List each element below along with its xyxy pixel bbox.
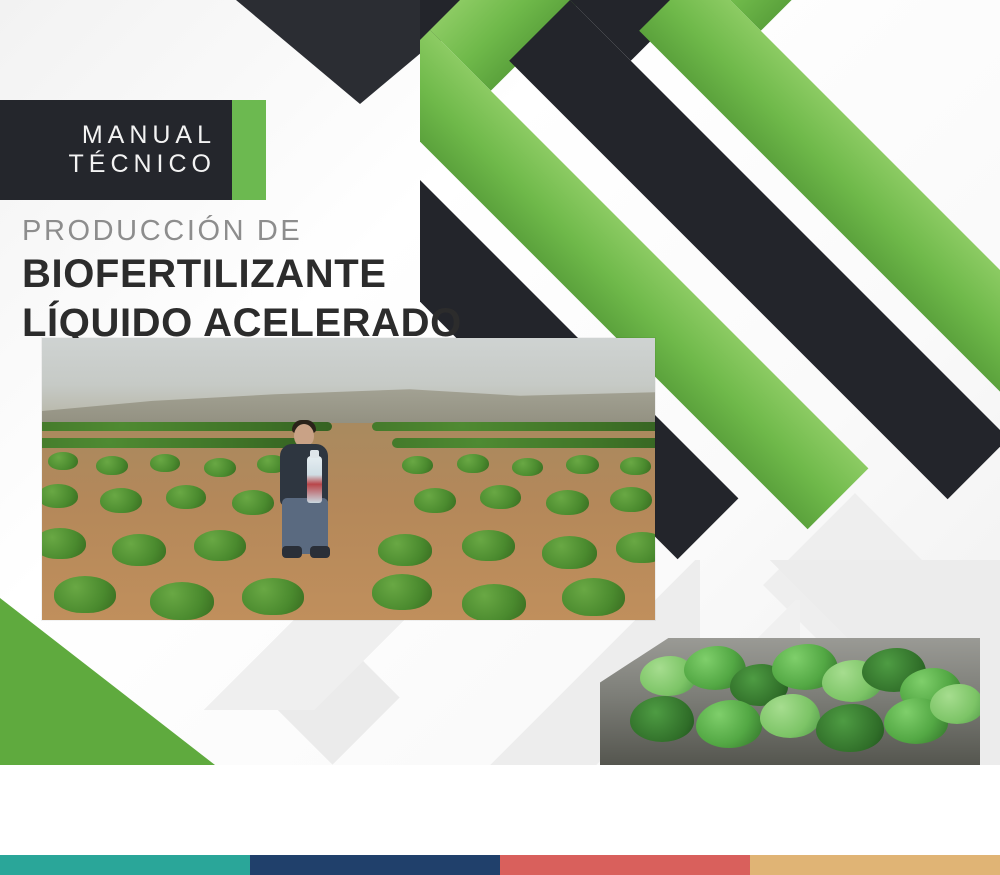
- crop-plant: [96, 456, 128, 475]
- crop-plant: [462, 584, 526, 620]
- crop-plant: [457, 454, 489, 473]
- colorbar-segment-red: [500, 855, 750, 875]
- crop-row: [42, 438, 312, 448]
- footer-bar: PERÚ Ministerio de Desarrollo Agrario y …: [0, 765, 1000, 855]
- crop-plant: [378, 534, 432, 566]
- green-plants-photo: [600, 638, 980, 765]
- crop-plant: [372, 574, 432, 610]
- crop-plant: [54, 576, 116, 613]
- crop-row: [372, 422, 655, 431]
- farmer-shoe: [310, 546, 330, 558]
- crop-plant: [402, 456, 433, 474]
- crop-plant: [480, 485, 521, 509]
- crop-plant: [166, 485, 206, 509]
- crop-plant: [48, 452, 78, 470]
- badge-green-accent-bar: [232, 100, 266, 200]
- crop-plant: [462, 530, 515, 561]
- crop-plant: [562, 578, 625, 616]
- plant-leaf: [630, 696, 694, 742]
- plant-leaf: [816, 704, 884, 752]
- crop-plant: [512, 458, 543, 476]
- title-block: PRODUCCIÓN DE BIOFERTILIZANTE LÍQUIDO AC…: [22, 216, 462, 345]
- crop-plant: [150, 582, 214, 620]
- biofertilizer-bottle: [307, 456, 322, 503]
- title-kicker: PRODUCCIÓN DE: [22, 216, 462, 248]
- manual-cover: MANUAL TÉCNICO PRODUCCIÓN DE BIOFERTILIZ…: [0, 0, 1000, 875]
- colorbar-segment-teal: [0, 855, 250, 875]
- crop-plant: [242, 578, 304, 615]
- crop-plant: [610, 487, 652, 512]
- title-main-line1: BIOFERTILIZANTE: [22, 252, 462, 297]
- farmer-in-field-photo: [42, 338, 655, 620]
- crop-row: [42, 422, 332, 431]
- colorbar-segment-navy: [250, 855, 500, 875]
- crop-plant: [150, 454, 180, 472]
- crop-plant: [42, 528, 86, 559]
- badge-line-manual: MANUAL: [82, 121, 216, 151]
- crop-plant: [194, 530, 246, 561]
- bottle-cap: [310, 450, 319, 458]
- crop-plant: [232, 490, 274, 515]
- crop-plant: [546, 490, 589, 515]
- badge-text-box: MANUAL TÉCNICO: [0, 100, 232, 200]
- plant-leaf: [930, 684, 980, 724]
- crop-plant: [566, 455, 599, 474]
- manual-tecnico-badge: MANUAL TÉCNICO: [0, 100, 266, 200]
- crop-plant: [112, 534, 166, 566]
- crop-plant: [542, 536, 597, 569]
- plant-leaf: [696, 700, 762, 748]
- plant-leaf: [760, 694, 820, 738]
- crop-plant: [42, 484, 78, 508]
- crop-row: [392, 438, 655, 448]
- colorbar-segment-gold: [750, 855, 1000, 875]
- crop-plant: [414, 488, 456, 513]
- badge-line-tecnico: TÉCNICO: [69, 150, 217, 180]
- bottom-color-bar: [0, 855, 1000, 875]
- crop-plant: [620, 457, 651, 475]
- farmer-shoe: [282, 546, 302, 558]
- crop-plant: [616, 532, 655, 563]
- crop-plant: [100, 488, 142, 513]
- crop-plant: [204, 458, 236, 477]
